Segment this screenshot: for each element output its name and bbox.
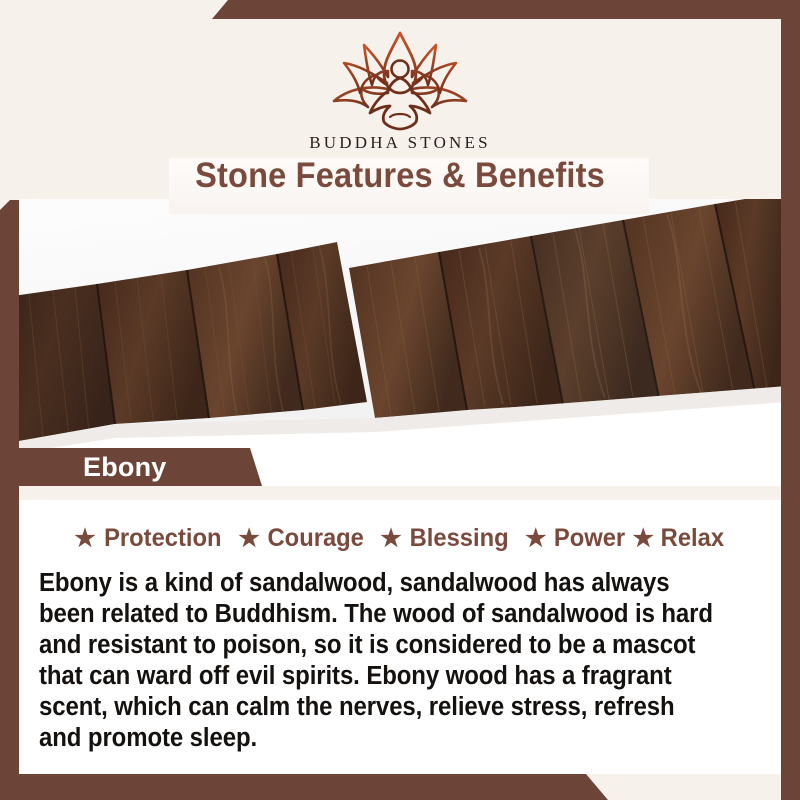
brand-name: BUDDHA STONES — [19, 133, 781, 153]
star-icon: ★ — [525, 527, 547, 551]
feature-label: Relax — [661, 524, 724, 553]
feature-item: ★ Blessing — [380, 524, 511, 553]
feature-item: ★ Power — [525, 524, 627, 553]
material-label: Ebony — [83, 452, 167, 483]
ebony-wood-planks-image — [19, 196, 781, 492]
feature-label: Courage — [267, 524, 363, 553]
lotus-meditation-icon — [314, 27, 486, 131]
feature-item: ★ Protection — [74, 524, 224, 553]
star-icon: ★ — [380, 527, 402, 551]
brand-logo: BUDDHA STONES — [19, 27, 781, 153]
star-icon: ★ — [238, 527, 260, 551]
feature-list: ★ Protection ★ Courage ★ Blessing ★ Powe… — [19, 524, 781, 553]
feature-label: Power — [553, 524, 624, 553]
poster-root: BUDDHA STONES Stone Features & Benefits — [0, 0, 800, 800]
content-top-tint — [19, 486, 781, 500]
description-text: Ebony is a kind of sandalwood, sandalwoo… — [39, 568, 716, 754]
feature-item: ★ Courage — [238, 524, 366, 553]
page-title: Stone Features & Benefits — [46, 156, 755, 196]
frame-right-bar — [781, 0, 800, 800]
feature-item: ★ Relax — [633, 524, 726, 553]
feature-label: Blessing — [409, 524, 508, 553]
hero-photo — [19, 196, 781, 492]
star-icon: ★ — [74, 527, 96, 551]
star-icon: ★ — [633, 527, 655, 551]
feature-label: Protection — [104, 524, 221, 553]
header-section: BUDDHA STONES Stone Features & Benefits — [19, 19, 781, 199]
frame-left-bar — [0, 200, 19, 800]
content-panel: ★ Protection ★ Courage ★ Blessing ★ Powe… — [19, 486, 781, 774]
